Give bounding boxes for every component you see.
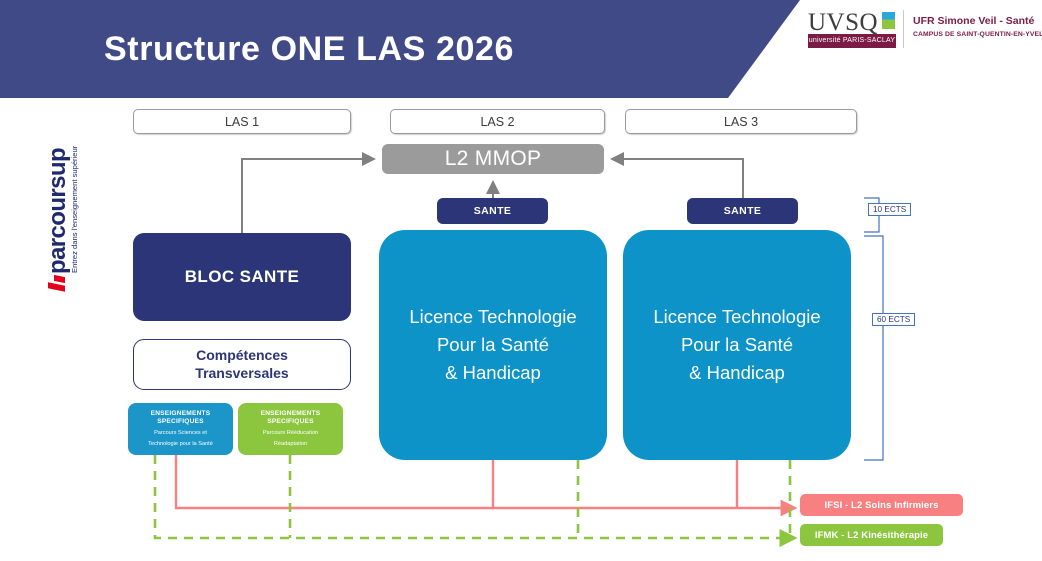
logo-divider — [903, 10, 904, 48]
parcoursup-tagline: Entrez dans l'enseignement supérieur — [70, 146, 79, 273]
competences-line-1: Compétences — [196, 347, 288, 364]
outcome-chip-ifmk[interactable]: IFMK - L2 Kinésithérapie — [800, 524, 943, 546]
parcoursup-mark-icon — [48, 282, 65, 292]
licence2-line-2: Pour la Santé — [681, 331, 793, 359]
node-sante-las3[interactable]: SANTE — [687, 198, 798, 224]
ens-blue-sub-1: Parcours Sciences et — [154, 430, 207, 438]
ects-label-top: 10 ECTS — [868, 203, 911, 216]
parcoursup-mark-secondary-icon — [54, 275, 65, 283]
node-bloc-sante[interactable]: BLOC SANTE — [133, 233, 351, 321]
licence1-line-2: Pour la Santé — [437, 331, 549, 359]
ens-green-sub-2: Réadaptation — [274, 441, 307, 449]
licence1-line-3: & Handicap — [445, 359, 541, 387]
uvsq-flag-icon — [880, 12, 895, 29]
universite-paris-saclay-label: université PARIS-SACLAY — [808, 34, 896, 48]
column-header-las-2[interactable]: LAS 2 — [390, 109, 605, 134]
node-l2-mmop[interactable]: L2 MMOP — [382, 144, 604, 174]
ens-blue-sub-2: Technologie pour la Santé — [148, 441, 213, 449]
ens-green-title-1: ENSEIGNEMENTS — [261, 410, 321, 419]
outcome-chip-ifsi[interactable]: IFSI - L2 Soins Infirmiers — [800, 494, 963, 516]
universite-paris-saclay-ribbon: université PARIS-SACLAY — [808, 34, 896, 48]
licence2-line-1: Licence Technologie — [653, 303, 820, 331]
ens-blue-title-1: ENSEIGNEMENTS — [151, 410, 211, 419]
ens-blue-title-2: SPECIFIQUES — [157, 418, 204, 427]
node-licence-technologie-las3[interactable]: Licence Technologie Pour la Santé & Hand… — [623, 230, 851, 460]
page-title: Structure ONE LAS 2026 — [104, 30, 514, 69]
licence1-line-1: Licence Technologie — [409, 303, 576, 331]
node-licence-technologie-las2[interactable]: Licence Technologie Pour la Santé & Hand… — [379, 230, 607, 460]
node-sante-las2[interactable]: SANTE — [437, 198, 548, 224]
ects-label-bottom: 60 ECTS — [872, 313, 915, 326]
ens-green-sub-1: Parcours Rééducation — [263, 430, 318, 438]
competences-line-2: Transversales — [195, 365, 288, 382]
slide-canvas: Structure ONE LAS 2026 UVSQ université P… — [0, 0, 1042, 561]
column-header-las-3[interactable]: LAS 3 — [625, 109, 857, 134]
parcoursup-logo: parcoursup Entrez dans l'enseignement su… — [44, 107, 88, 292]
node-enseignements-specifiques-reeducation[interactable]: ENSEIGNEMENTS SPECIFIQUES Parcours Réédu… — [238, 403, 343, 455]
uvsq-logo: UVSQ université PARIS-SACLAY UFR Simone … — [808, 10, 1036, 52]
node-competences-transversales[interactable]: Compétences Transversales — [133, 339, 351, 390]
ufr-campus: CAMPUS DE SAINT-QUENTIN-EN-YVELINES — [913, 31, 1042, 38]
uvsq-wordmark: UVSQ — [808, 10, 878, 35]
node-enseignements-specifiques-sciences[interactable]: ENSEIGNEMENTS SPECIFIQUES Parcours Scien… — [128, 403, 233, 455]
ufr-name: UFR Simone Veil - Santé — [913, 15, 1034, 27]
parcoursup-wordmark: parcoursup — [44, 148, 72, 274]
ens-green-title-2: SPECIFIQUES — [267, 418, 314, 427]
column-header-las-1[interactable]: LAS 1 — [133, 109, 351, 134]
licence2-line-3: & Handicap — [689, 359, 785, 387]
